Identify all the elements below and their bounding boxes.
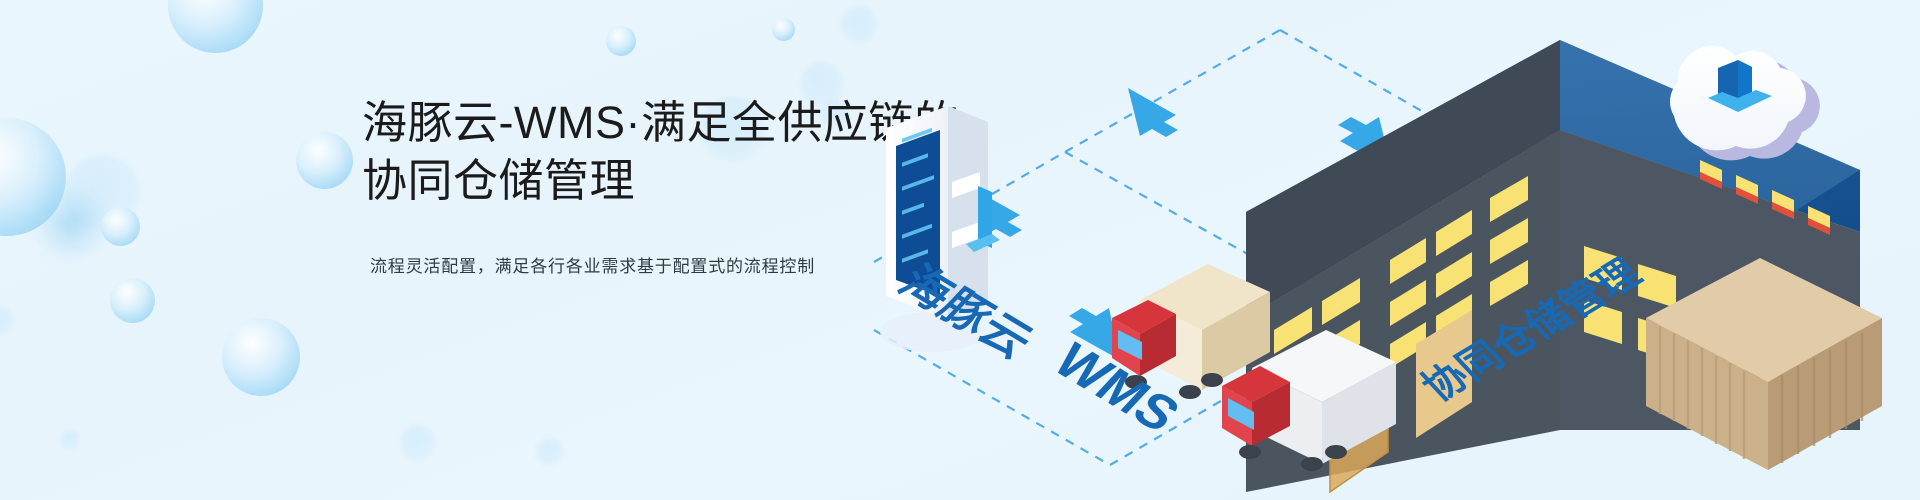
decorative-bubble bbox=[0, 305, 14, 337]
decorative-bubble bbox=[110, 278, 155, 323]
decorative-bubble bbox=[296, 132, 353, 189]
decorative-bubble bbox=[222, 318, 300, 396]
hero-banner: 海豚云-WMS·满足全供应链的 协同仓储管理 流程灵活配置，满足各行各业需求基于… bbox=[0, 0, 1920, 500]
decorative-bubble bbox=[0, 118, 66, 236]
decorative-bubble bbox=[101, 207, 140, 246]
decorative-bubble bbox=[536, 438, 564, 466]
decorative-bubble bbox=[64, 155, 140, 231]
decorative-bubble bbox=[168, 0, 263, 53]
decorative-bubble bbox=[36, 188, 106, 258]
decorative-bubble bbox=[772, 18, 795, 41]
warehouse-illustration: 海豚云 WMS 协同仓储管理 bbox=[860, 0, 1920, 500]
decorative-bubble bbox=[400, 425, 436, 461]
decorative-bubble bbox=[606, 26, 636, 56]
arrow-right-icon bbox=[1128, 88, 1178, 137]
decorative-bubble bbox=[60, 430, 80, 450]
